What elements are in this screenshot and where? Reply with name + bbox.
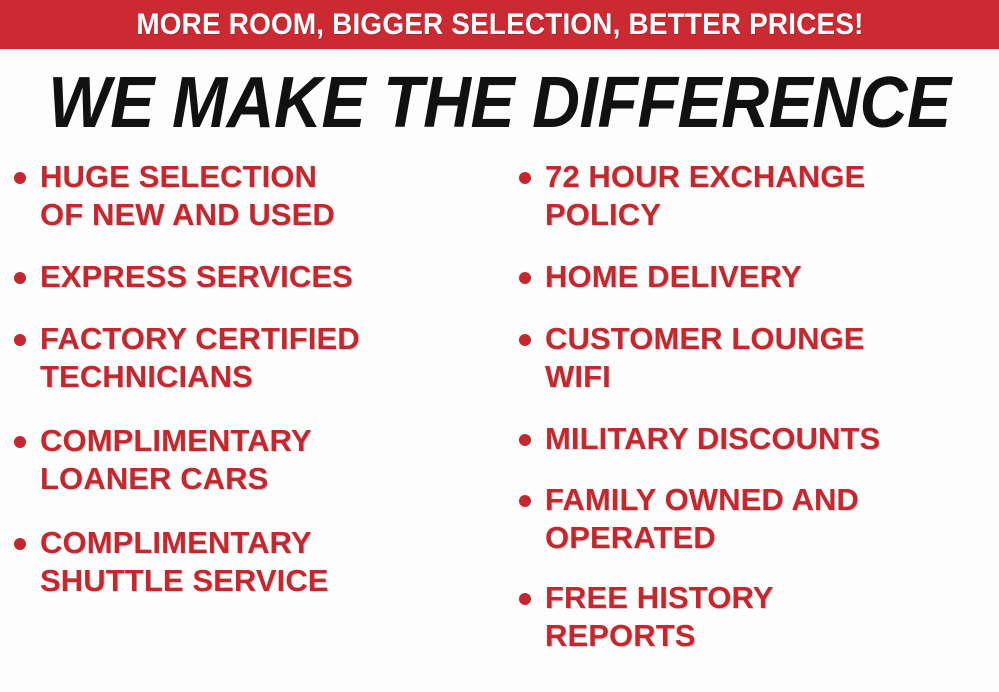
bullet-dot-icon bbox=[519, 172, 531, 184]
list-item: MILITARY DISCOUNTS bbox=[519, 420, 999, 458]
banner-headline-text: MORE ROOM, BIGGER SELECTION, BETTER PRIC… bbox=[136, 10, 863, 40]
list-item-label: FACTORY CERTIFIED TECHNICIANS bbox=[40, 320, 360, 396]
list-item-label: COMPLIMENTARY SHUTTLE SERVICE bbox=[40, 524, 329, 600]
bullet-dot-icon bbox=[519, 593, 531, 605]
list-item: COMPLIMENTARY LOANER CARS bbox=[14, 422, 505, 498]
list-item: CUSTOMER LOUNGE WIFI bbox=[519, 320, 999, 396]
list-item: HUGE SELECTION OF NEW AND USED bbox=[14, 158, 505, 234]
bullet-dot-icon bbox=[14, 436, 26, 448]
list-item-label: FREE HISTORY REPORTS bbox=[545, 579, 774, 655]
bullet-dot-icon bbox=[519, 434, 531, 446]
headline-container: WE MAKE THE DIFFERENCE bbox=[0, 62, 999, 144]
bullet-dot-icon bbox=[14, 334, 26, 346]
list-item: EXPRESS SERVICES bbox=[14, 258, 505, 296]
list-item: 72 HOUR EXCHANGE POLICY bbox=[519, 158, 999, 234]
bullet-dot-icon bbox=[14, 538, 26, 550]
list-item-label: HUGE SELECTION OF NEW AND USED bbox=[40, 158, 335, 234]
list-item-label: CUSTOMER LOUNGE WIFI bbox=[545, 320, 865, 396]
list-item: COMPLIMENTARY SHUTTLE SERVICE bbox=[14, 524, 505, 600]
list-item-label: EXPRESS SERVICES bbox=[40, 258, 353, 296]
page-title: WE MAKE THE DIFFERENCE bbox=[48, 67, 951, 139]
benefits-columns: HUGE SELECTION OF NEW AND USED EXPRESS S… bbox=[0, 158, 999, 692]
list-item-label: HOME DELIVERY bbox=[545, 258, 802, 296]
bullet-dot-icon bbox=[519, 495, 531, 507]
top-banner: MORE ROOM, BIGGER SELECTION, BETTER PRIC… bbox=[0, 0, 999, 49]
list-item-label: MILITARY DISCOUNTS bbox=[545, 420, 880, 458]
bullet-dot-icon bbox=[519, 334, 531, 346]
list-item: FAMILY OWNED AND OPERATED bbox=[519, 481, 999, 557]
list-item: FREE HISTORY REPORTS bbox=[519, 579, 999, 655]
benefits-column-right: 72 HOUR EXCHANGE POLICY HOME DELIVERY CU… bbox=[505, 158, 999, 677]
benefits-column-left: HUGE SELECTION OF NEW AND USED EXPRESS S… bbox=[0, 158, 505, 622]
bullet-dot-icon bbox=[519, 272, 531, 284]
list-item: HOME DELIVERY bbox=[519, 258, 999, 296]
list-item-label: 72 HOUR EXCHANGE POLICY bbox=[545, 158, 865, 234]
promo-poster: MORE ROOM, BIGGER SELECTION, BETTER PRIC… bbox=[0, 0, 999, 692]
bullet-dot-icon bbox=[14, 172, 26, 184]
list-item-label: FAMILY OWNED AND OPERATED bbox=[545, 481, 859, 557]
list-item-label: COMPLIMENTARY LOANER CARS bbox=[40, 422, 312, 498]
list-item: FACTORY CERTIFIED TECHNICIANS bbox=[14, 320, 505, 396]
bullet-dot-icon bbox=[14, 272, 26, 284]
